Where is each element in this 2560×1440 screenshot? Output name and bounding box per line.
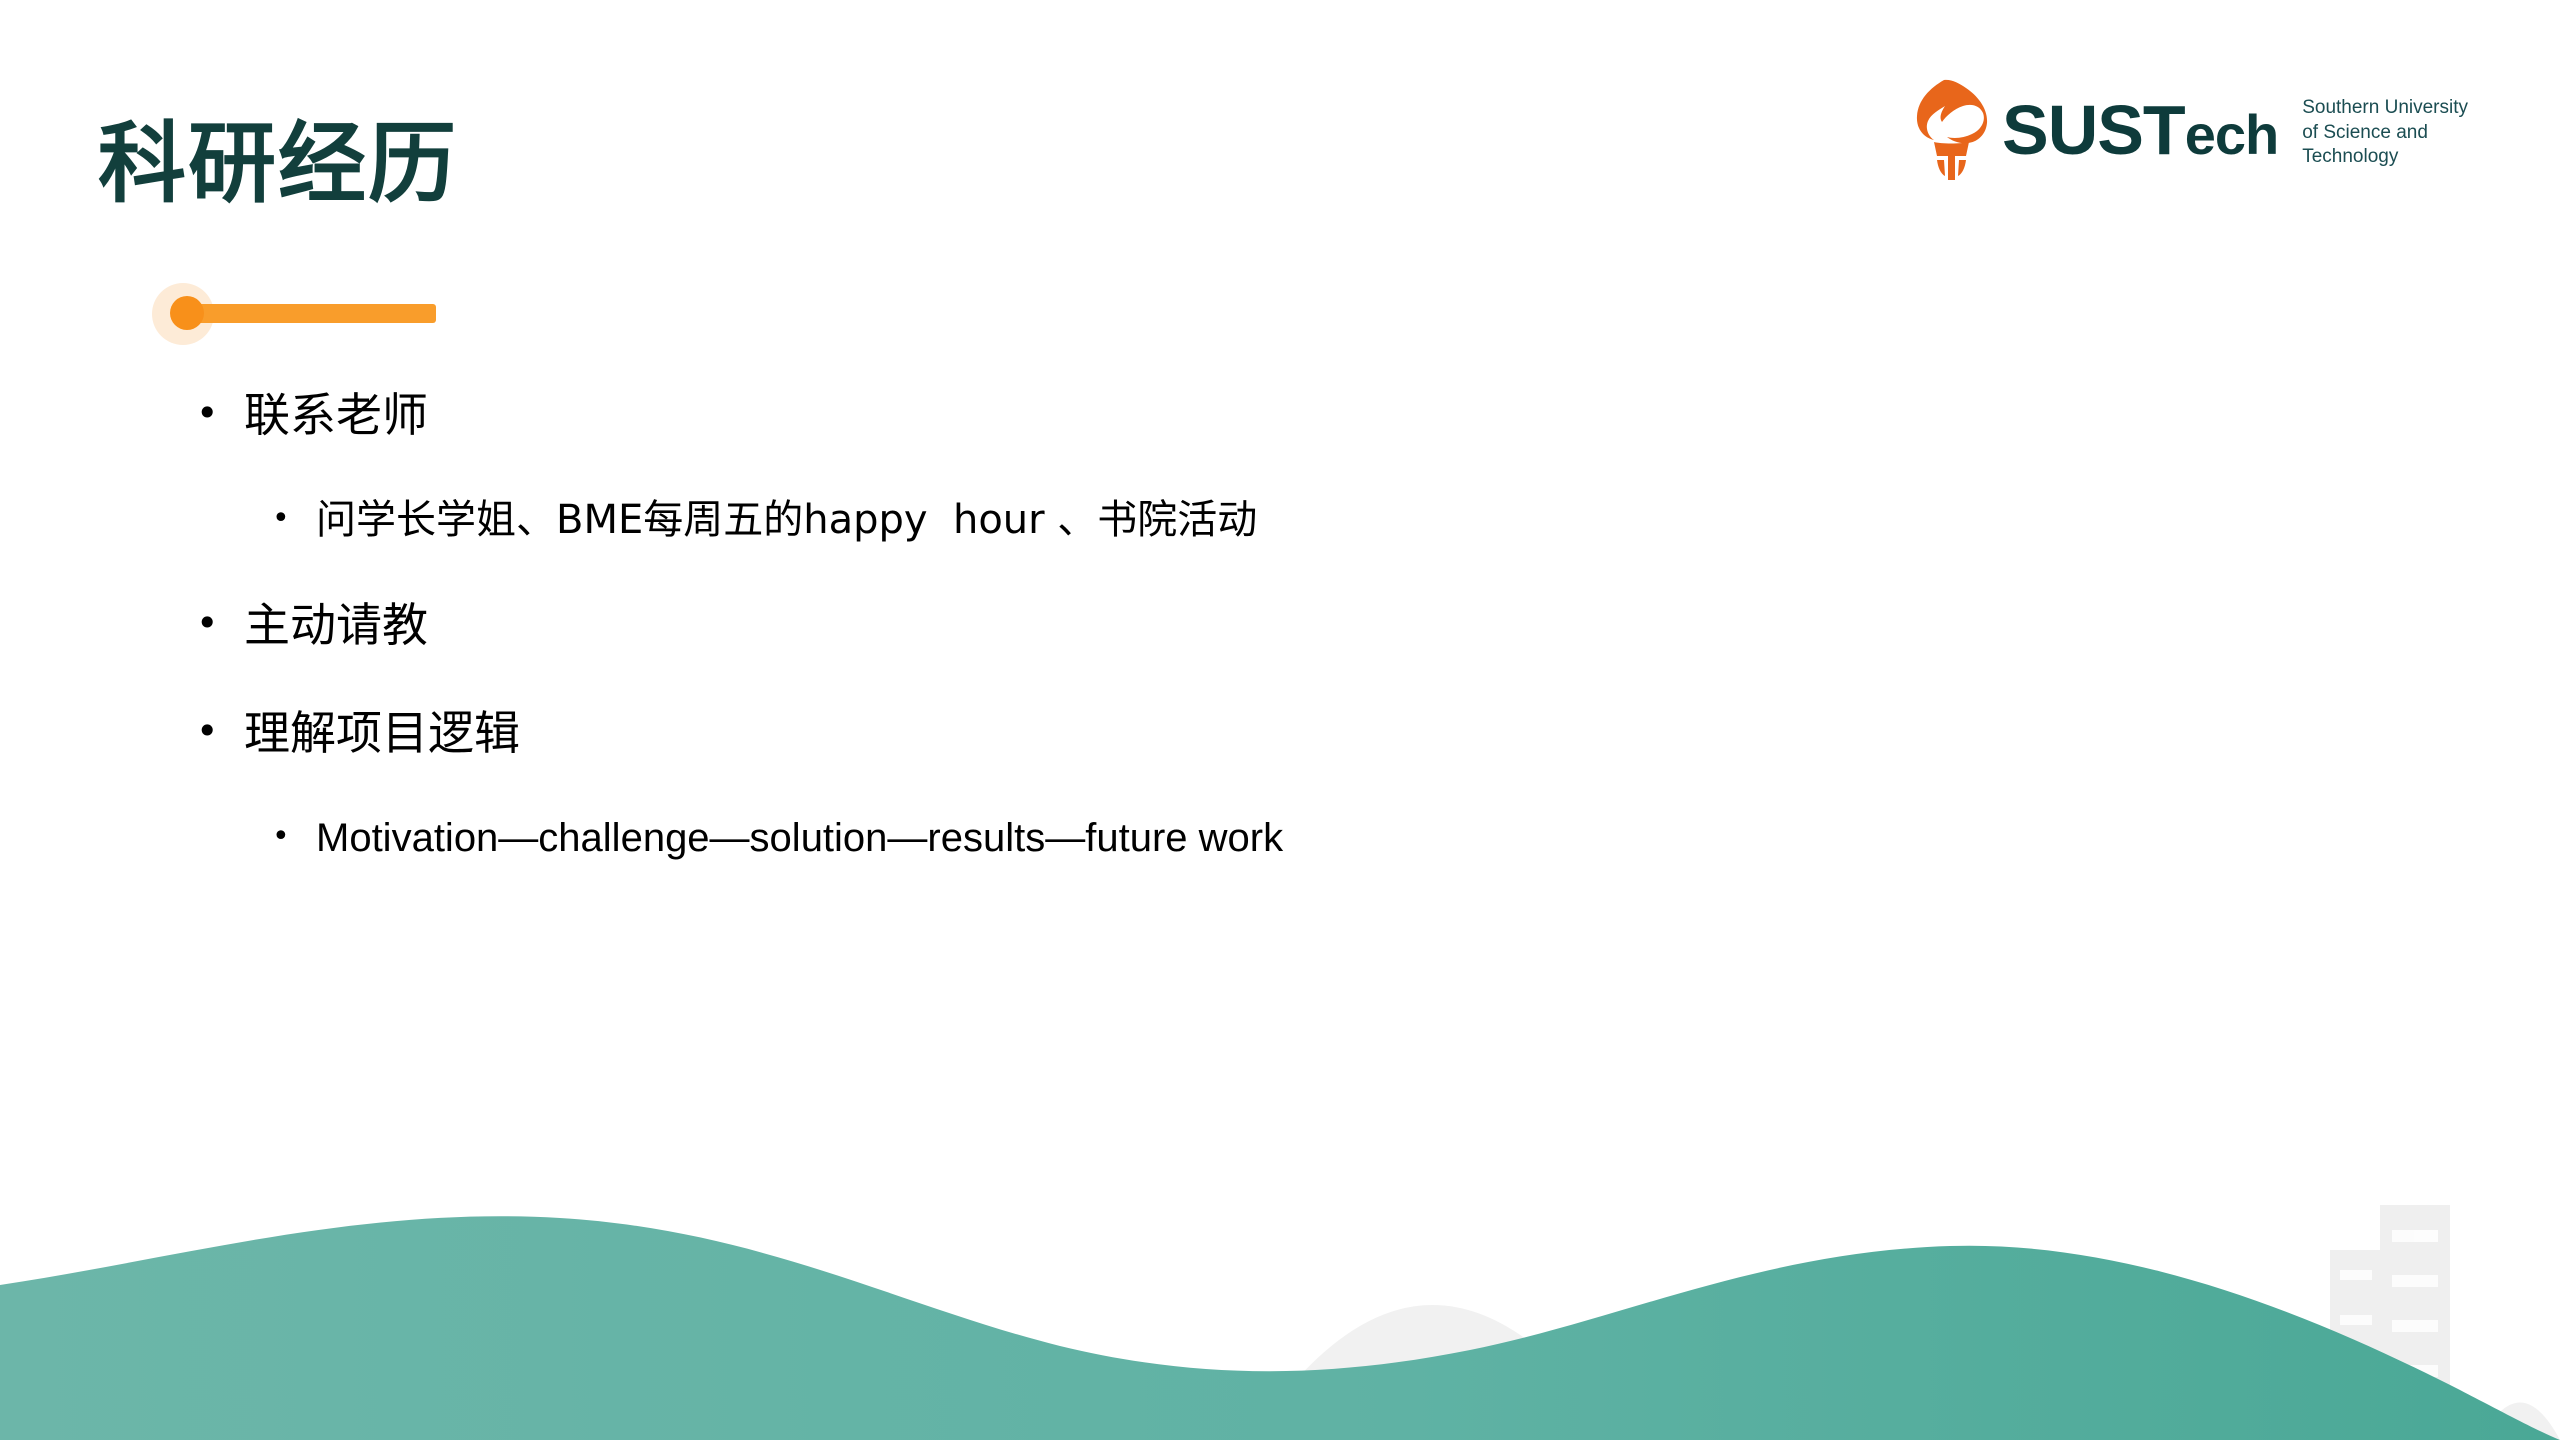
logo-tagline-line-1: Southern University bbox=[2302, 96, 2468, 121]
list-item: • 理解项目逻辑 bbox=[196, 710, 2296, 756]
list-item-label: 联系老师 bbox=[244, 392, 428, 438]
bullet-icon: • bbox=[196, 710, 244, 754]
bullet-icon: • bbox=[196, 392, 244, 436]
sustech-logo: SUSTech Southern University of Science a… bbox=[1914, 78, 2468, 182]
list-item-label: 理解项目逻辑 bbox=[244, 710, 520, 756]
list-item: • Motivation—challenge—solution—results—… bbox=[272, 818, 2296, 858]
logo-tagline-line-3: Technology bbox=[2302, 145, 2468, 170]
accent-bar bbox=[186, 304, 436, 323]
list-item: • 主动请教 bbox=[196, 602, 2296, 648]
content-body: • 联系老师 • 问学长学姐、BME每周五的happy hour 、书院活动 •… bbox=[196, 392, 2296, 920]
bullet-icon: • bbox=[272, 818, 316, 856]
logo-tagline-line-2: of Science and bbox=[2302, 121, 2468, 146]
bullet-icon: • bbox=[272, 500, 316, 538]
slide-canvas: 科研经历 SUSTech Southern University of Scie… bbox=[0, 0, 2560, 1440]
mountain-silhouettes bbox=[120, 1270, 2560, 1440]
accent-dot-icon bbox=[170, 296, 204, 330]
list-item-label: Motivation—challenge—solution—results—fu… bbox=[316, 818, 1283, 858]
building-silhouettes bbox=[2330, 1205, 2450, 1440]
logo-tagline: Southern University of Science and Techn… bbox=[2302, 96, 2468, 170]
bottom-decoration bbox=[0, 1110, 2560, 1440]
list-item: • 联系老师 bbox=[196, 392, 2296, 438]
list-item: • 问学长学姐、BME每周五的happy hour 、书院活动 bbox=[272, 500, 2296, 540]
title-accent-rule bbox=[90, 268, 430, 358]
logo-wordmark: SUSTech bbox=[2002, 95, 2278, 165]
page-title: 科研经历 bbox=[98, 118, 1498, 210]
logo-wordmark-main: SUST bbox=[2002, 91, 2185, 169]
bullet-icon: • bbox=[196, 602, 244, 646]
title-block: 科研经历 bbox=[98, 118, 1498, 210]
teal-wave bbox=[0, 1216, 2560, 1440]
list-item-label: 问学长学姐、BME每周五的happy hour 、书院活动 bbox=[316, 500, 1257, 540]
torch-flame-icon bbox=[1914, 78, 1988, 182]
list-item-label: 主动请教 bbox=[244, 602, 428, 648]
logo-wordmark-suffix: ech bbox=[2185, 103, 2279, 166]
